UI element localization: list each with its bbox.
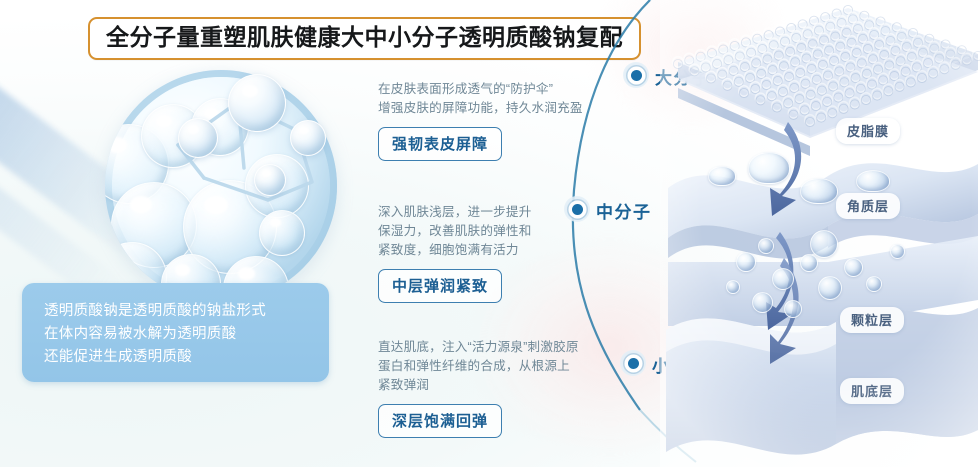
molecule-marker-large-icon[interactable] xyxy=(623,62,649,88)
molecule-node xyxy=(178,118,218,158)
molecule-marker-small-icon[interactable] xyxy=(620,350,646,376)
benefit-badge[interactable]: 强韧表皮屏障 xyxy=(378,127,502,161)
molecule-node xyxy=(254,164,286,196)
benefit-badge[interactable]: 深层饱满回弹 xyxy=(378,404,502,438)
molecule-node xyxy=(228,74,286,132)
molecule-label-medium: 中分子 xyxy=(596,198,652,223)
caption-card: 透明质酸钠是透明质酸的钠盐形式 在体内容易被水解为透明质酸 还能促进生成透明质酸 xyxy=(22,283,329,382)
infographic-canvas: 全分子量重塑肌肤健康大中小分子透明质酸钠复配 透明质酸钠是透明质酸的钠盐形式 在… xyxy=(0,0,980,467)
skin-cross-section-illustration: 皮脂膜 角质层 颗粒层 肌底层 xyxy=(660,0,980,467)
caption-card-text: 透明质酸钠是透明质酸的钠盐形式 在体内容易被水解为透明质酸 还能促进生成透明质酸 xyxy=(44,300,315,369)
molecule-node xyxy=(290,120,326,156)
benefit-badge[interactable]: 中层弹润紧致 xyxy=(378,269,502,303)
illustration-edge-glow xyxy=(660,0,980,467)
molecule-marker-medium-icon[interactable] xyxy=(564,196,590,222)
